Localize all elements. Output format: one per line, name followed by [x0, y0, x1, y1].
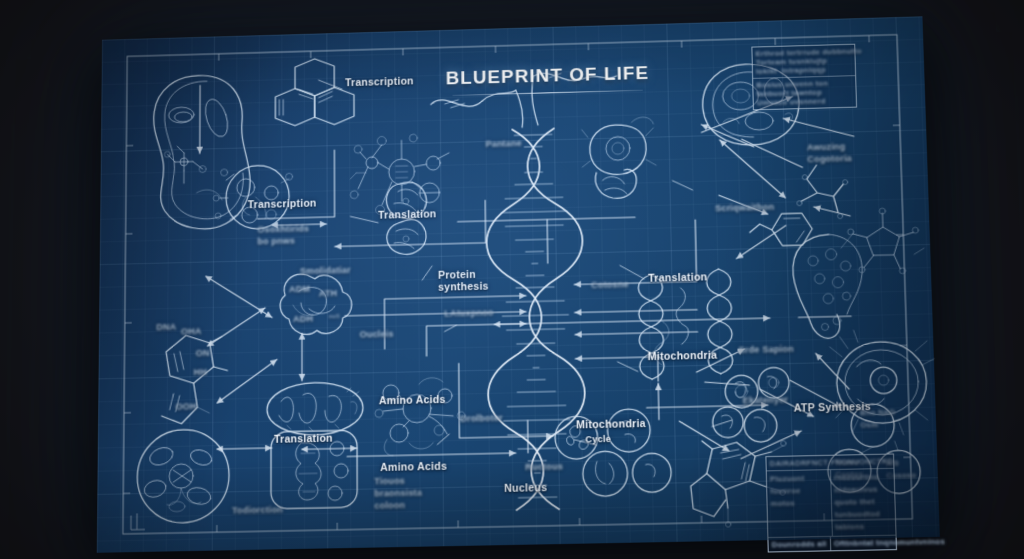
info-line-3: Iokikt Intrapnlqqp — [756, 64, 863, 76]
title-block-bottom-right: DAIRADRFNCT FNONUONCTRD Pluzuont founroe… — [765, 453, 897, 552]
annotation-ekatenyer: Ekatenyer — [743, 395, 789, 406]
screenshot-stage: BLUEPRINT OF LIFE Transcription Transcri… — [0, 0, 1024, 559]
info-box-top-right: Erthrod tertrrude dubbnutto Torteam tusn… — [751, 44, 857, 111]
title-block-cell: Ofttnbntat tnqnomuntvninos — [830, 535, 949, 551]
sugar-phosphate-right — [840, 207, 925, 275]
vesicle-right — [792, 234, 864, 339]
annotation-rna-polymerase: LAtuxpnoo — [444, 307, 493, 318]
title-block-r1c2: rnozuurtins nidoautvus quoto thet tunbuo… — [834, 471, 893, 534]
annotation-amazing-cogatoria: Awuzing Cogotoria — [807, 140, 852, 165]
branched-molecule-right — [796, 164, 849, 219]
blueprint-perspective-wrap: BLUEPRINT OF LIFE Transcription Transcri… — [0, 0, 1024, 559]
annotation-scripwaitbon: Scriqwaitbon — [715, 202, 774, 213]
title-block-cell: Pluzuont founroe motos — [767, 470, 832, 537]
tag-atp3: ADH — [293, 314, 313, 324]
tag-ooh: OOH — [176, 401, 197, 411]
annotation-pantane: Pantane — [486, 138, 522, 149]
title-block-header: DAIRADRFNCT FNONUONCTRD — [770, 457, 894, 469]
label-mitochondria-bottom: Mitochondria — [576, 418, 646, 432]
label-transcription-left: Transcription — [248, 198, 317, 212]
annotation-srde-sapion: Srde Sapion — [738, 344, 794, 355]
annotation-cotosne: Cotosne — [591, 279, 629, 290]
label-protein-synthesis: Protein synthesis — [438, 269, 489, 294]
tag-hh: HH — [194, 367, 207, 377]
tag-atp2: ATH — [319, 288, 337, 298]
vesicle-left — [213, 165, 292, 230]
info-box-cell: Erthrod tertrrude dubbnutto Torteam tusn… — [752, 44, 865, 78]
mitochondrion-left — [267, 382, 363, 436]
title-block-row-1: Pluzuont founroe motos rnozuurtins nidoa… — [767, 468, 896, 537]
label-translation-right: Translation — [648, 271, 707, 284]
tag-on: ON — [196, 348, 210, 358]
title-block-cell: rnozuurtins nidoautvus quoto thet tunbuo… — [830, 469, 896, 536]
label-mitochondria-right: Mitochondria — [648, 350, 718, 364]
title-block-r2c1: Dounrodds all — [772, 539, 827, 549]
info-box-section-2: Bosius unvenn ton fanbuort tawntop Umvoz… — [753, 75, 856, 109]
title-block-cell: DAIRADRFNCT FNONUONCTRD — [766, 454, 896, 470]
info-box-cell: Bosius unvenn ton fanbuort tawntop Umvoz… — [753, 76, 856, 109]
label-amino-acids-left: Amino Acids — [379, 394, 446, 408]
atp-blob-left — [280, 273, 352, 335]
title-block-row-2: Dounrodds all Ofttnbntat tnqnomuntvninos — [768, 535, 896, 552]
annotation-droloboter: Drolboter — [460, 413, 503, 424]
label-translation-upper-left: Translation — [378, 208, 436, 221]
annotation-tissue-note: Tiouos braonsista coloon — [374, 474, 422, 512]
tag-oha: OHA — [181, 326, 201, 336]
blueprint-content: BLUEPRINT OF LIFE Transcription Transcri… — [97, 16, 940, 552]
label-transcription-top: Transcription — [345, 76, 414, 90]
cell-with-organelles-bottom-left — [137, 429, 229, 524]
label-amino-acids-bottom: Amino Acids — [380, 461, 447, 475]
label-nucleus-bottom: Nucleus — [504, 482, 547, 495]
protein-complex-bottom-center — [375, 377, 466, 456]
dna-double-helix-center — [485, 128, 586, 511]
hexagon-molecule-top-left — [275, 58, 354, 126]
annotation-dna-note: DNA — [156, 322, 176, 332]
info-box-section-1: Erthrod tertrrude dubbnutto Torteam tusn… — [752, 45, 855, 78]
nucleotide-cluster-upper — [350, 133, 449, 220]
annotation-nucleotide-pairs: Osoxhtirids bo pnws — [257, 222, 309, 247]
title-block-header-row: DAIRADRFNCT FNONUONCTRD — [766, 454, 893, 470]
title-block-r2c2: Ofttnbntat tnqnomuntvninos — [834, 537, 945, 548]
annotation-semiconductor: Smolidatiar — [300, 265, 351, 276]
blueprint-sheet: BLUEPRINT OF LIFE Transcription Transcri… — [97, 16, 940, 552]
annotation-nucleus-note: Oucleis — [360, 329, 394, 340]
title-block-r1c1: Pluzuont founroe motos — [770, 472, 828, 510]
cell-organelle-top-left — [153, 74, 250, 230]
ribosome-top-right — [582, 117, 657, 199]
label-translation-lower-left: Translation — [274, 433, 333, 446]
info-line-6: Umvozo uvsnnerd — [757, 96, 853, 107]
annotation-atp-node-1: Bno NAD Osm — [860, 406, 896, 431]
label-mitochondria-cycle: Cycle — [585, 434, 611, 445]
tag-atp1: ADM — [289, 284, 310, 294]
annotation-ructous: Ructous — [525, 461, 563, 472]
tag-atp4: nuS — [329, 314, 340, 320]
benzene-ring-right — [749, 213, 812, 246]
title-block-cell: Dounrodds all — [768, 537, 829, 552]
annotation-todiorction: Todiorction — [232, 504, 283, 515]
